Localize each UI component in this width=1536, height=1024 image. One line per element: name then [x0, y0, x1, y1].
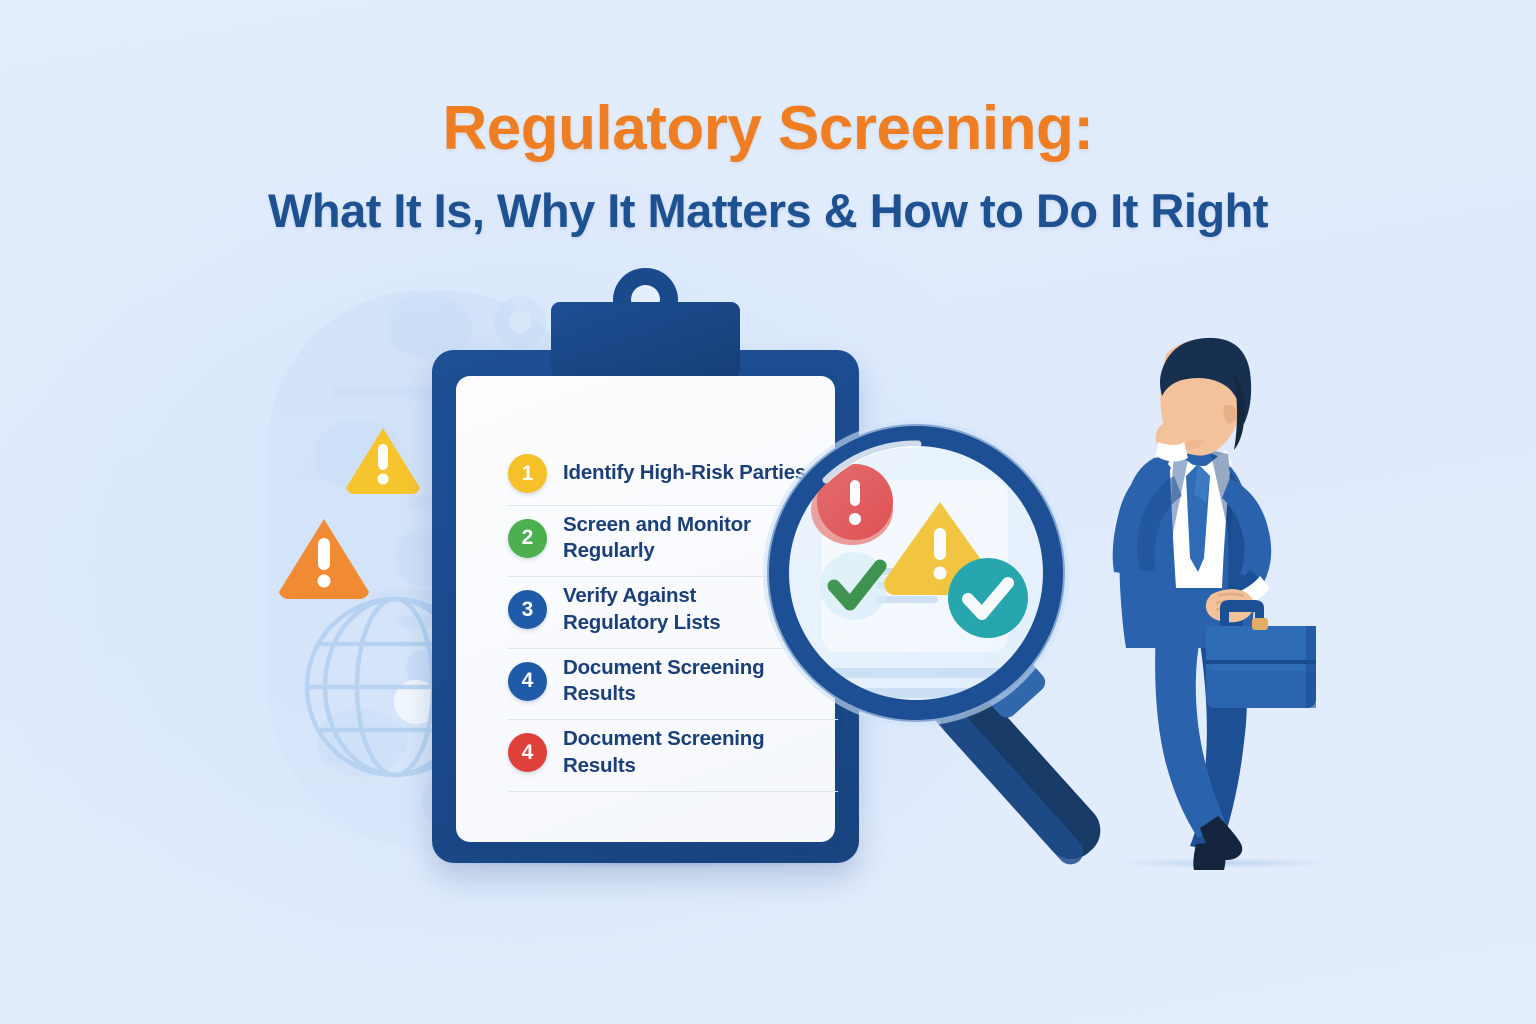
heading-block: Regulatory Screening: What It Is, Why It… — [0, 96, 1536, 238]
step-badge: 4 — [508, 662, 547, 701]
step-badge: 4 — [508, 733, 547, 772]
page-subtitle: What It Is, Why It Matters & How to Do I… — [0, 185, 1536, 238]
step-badge: 2 — [508, 519, 547, 558]
clipboard-clip-icon — [551, 302, 740, 378]
briefcase-latch — [1252, 618, 1268, 630]
step-label: Verify Against Regulatory Lists — [563, 583, 720, 635]
infographic-canvas: 1 Identify High-Risk Parties 2 Screen an… — [0, 0, 1536, 1024]
step-badge: 1 — [508, 454, 547, 493]
page-title: Regulatory Screening: — [0, 96, 1536, 163]
step-label: Screen and Monitor Regularly — [563, 512, 751, 564]
businessman-thinking-illustration — [1048, 330, 1348, 875]
step-badge: 3 — [508, 590, 547, 629]
warning-triangle-orange — [275, 514, 373, 602]
warning-triangle-yellow — [343, 424, 423, 496]
